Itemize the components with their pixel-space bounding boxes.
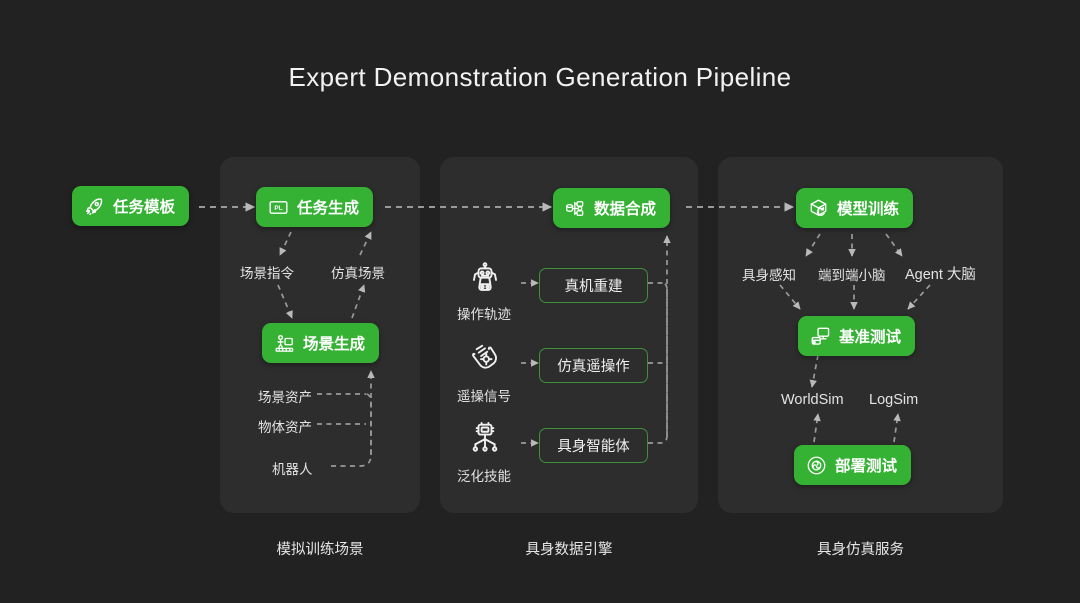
label-agent-brain: Agent 大脑	[905, 263, 976, 284]
label-embodied-perception: 具身感知	[742, 264, 796, 284]
label-end-to-end-cerebellum: 端到端小脑	[818, 264, 886, 284]
label-logsim: LogSim	[869, 392, 918, 408]
pill-task-template[interactable]: 任务模板	[72, 186, 189, 226]
robot-icon	[468, 261, 502, 295]
box-simulated-teleoperation[interactable]: 仿真遥操作	[539, 348, 648, 383]
rocket-icon	[84, 196, 105, 217]
label-robot: 机器人	[272, 458, 313, 478]
label-object-assets: 物体资产	[258, 416, 312, 436]
pill-label: 模型训练	[837, 197, 899, 219]
page-title: Expert Demonstration Generation Pipeline	[0, 62, 1080, 93]
swirl-circle-icon	[806, 455, 827, 476]
label-scene-instruction: 场景指令	[240, 262, 294, 282]
svg-text:PL: PL	[274, 204, 282, 211]
label-generalization-skill: 泛化技能	[457, 465, 511, 485]
pill-label: 任务生成	[297, 196, 359, 218]
box-embodied-agent[interactable]: 具身智能体	[539, 428, 648, 463]
label-simulation-scene: 仿真场景	[331, 262, 385, 282]
pill-benchmark-test[interactable]: 基准测试	[798, 316, 915, 356]
cube-refresh-icon	[808, 198, 829, 219]
pill-scene-generation[interactable]: 场景生成	[262, 323, 379, 363]
pl-frame-icon: PL	[268, 197, 289, 218]
box-real-machine-reconstruction[interactable]: 真机重建	[539, 268, 648, 303]
scene-robot-icon	[274, 333, 295, 354]
caption-simulation-training-scene: 模拟训练场景	[220, 538, 420, 559]
caption-embodied-data-engine: 具身数据引擎	[440, 538, 698, 559]
label-operation-trajectory: 操作轨迹	[457, 303, 511, 323]
pill-label: 场景生成	[303, 332, 365, 354]
pill-label: 基准测试	[839, 325, 901, 347]
pill-deployment-test[interactable]: 部署测试	[794, 445, 911, 485]
diagram-canvas: Expert Demonstration Generation Pipeline	[0, 0, 1080, 603]
pill-task-generation[interactable]: PL 任务生成	[256, 187, 373, 227]
chip-icon	[468, 421, 502, 455]
pill-data-synthesis[interactable]: 数据合成	[553, 188, 670, 228]
pill-model-training[interactable]: 模型训练	[796, 188, 913, 228]
label-worldsim: WorldSim	[781, 392, 844, 408]
pill-label: 数据合成	[594, 197, 656, 219]
monitor-icon	[810, 326, 831, 347]
caption-embodied-simulation-service: 具身仿真服务	[718, 538, 1003, 559]
pill-label: 任务模板	[113, 195, 175, 217]
label-scene-assets: 场景资产	[258, 386, 312, 406]
glove-icon	[468, 341, 502, 375]
label-teleoperation-signal: 遥操信号	[457, 385, 511, 405]
data-nodes-icon	[565, 198, 586, 219]
pill-label: 部署测试	[835, 454, 897, 476]
